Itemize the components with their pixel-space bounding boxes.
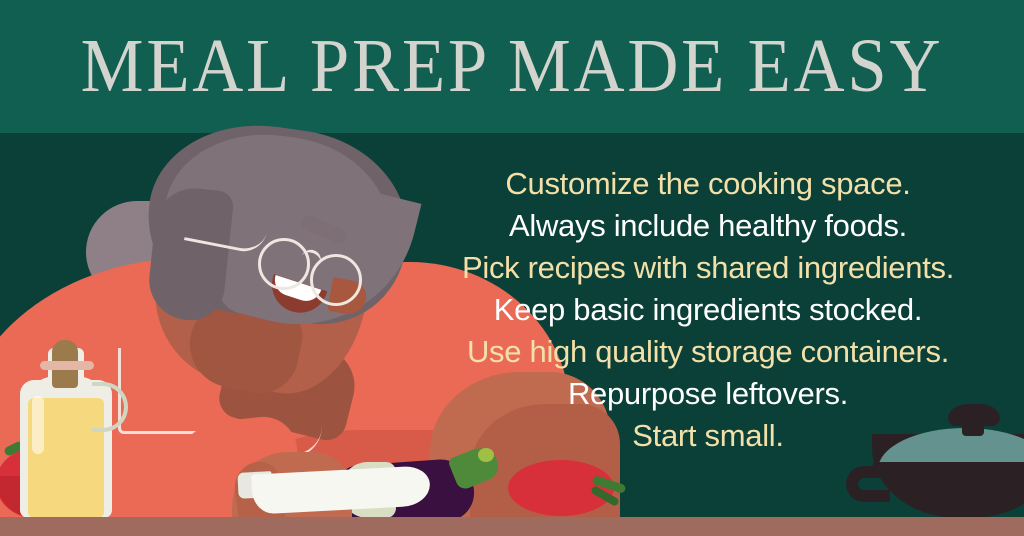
oil-bottle-highlight bbox=[32, 396, 44, 454]
poster-canvas: MEAL PREP MADE EASY bbox=[0, 0, 1024, 536]
tip-line: Always include healthy foods. bbox=[392, 205, 1024, 247]
kitchen-counter bbox=[0, 517, 1024, 536]
page-title: MEAL PREP MADE EASY bbox=[36, 18, 988, 114]
pot-lid-rim bbox=[872, 462, 1024, 474]
tip-line: Start small. bbox=[392, 415, 1024, 457]
tips-list: Customize the cooking space. Always incl… bbox=[392, 163, 1024, 457]
tip-line: Customize the cooking space. bbox=[392, 163, 1024, 205]
tip-line: Pick recipes with shared ingredients. bbox=[392, 247, 1024, 289]
glasses-lens-left bbox=[258, 238, 310, 290]
tip-line: Use high quality storage containers. bbox=[392, 331, 1024, 373]
tip-line: Keep basic ingredients stocked. bbox=[392, 289, 1024, 331]
oil-bottle-collar bbox=[40, 361, 94, 370]
tip-line: Repurpose leftovers. bbox=[392, 373, 1024, 415]
